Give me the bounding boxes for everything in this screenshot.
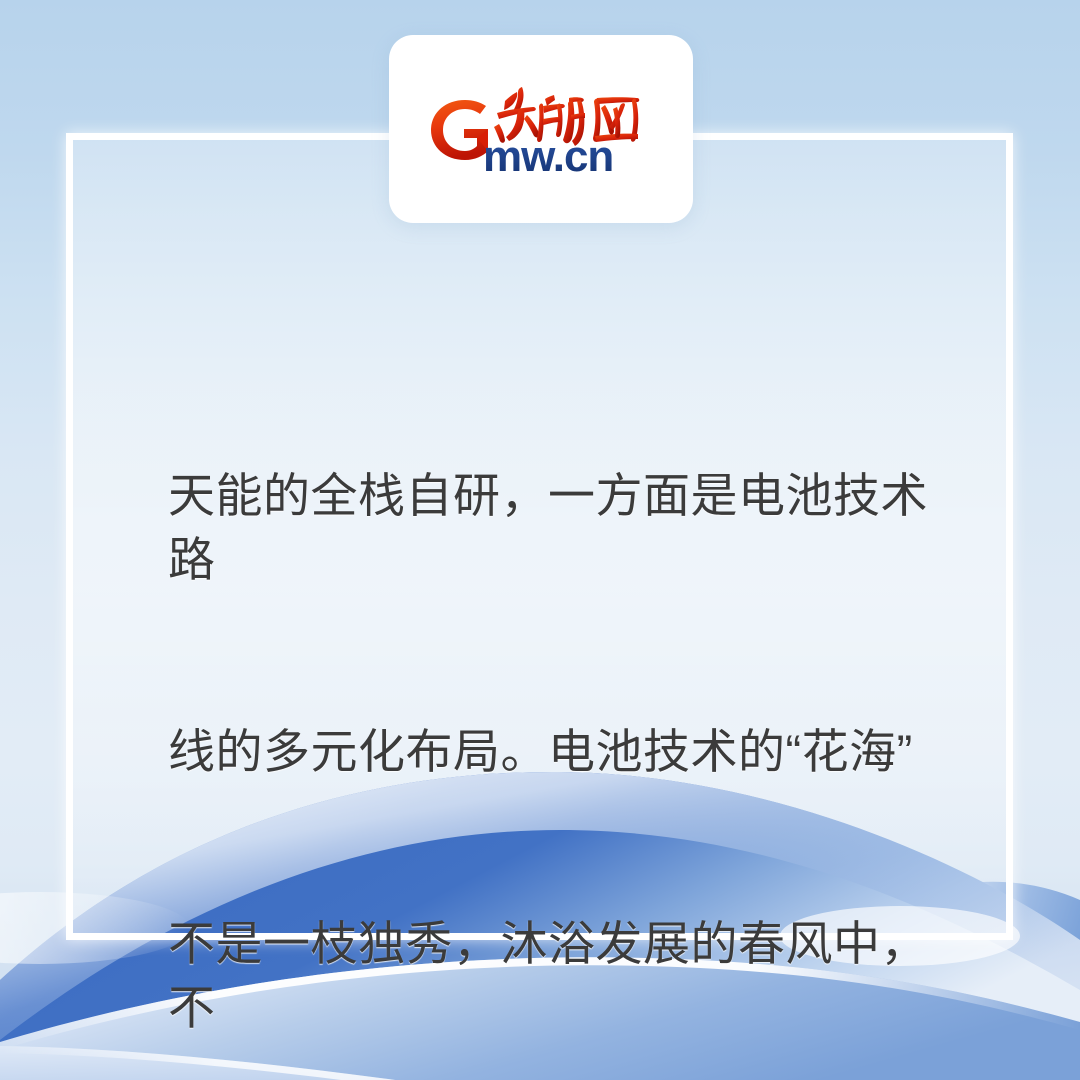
paragraph-line: 线的多元化布局。电池技术的“花海” bbox=[168, 720, 936, 784]
poster-canvas: mw.cn 天能的全栈自研，一方面是电池技术路 线的多元化布局。电池技术的“花海… bbox=[0, 0, 1080, 1080]
article-paragraph: 天能的全栈自研，一方面是电池技术路 线的多元化布局。电池技术的“花海” 不是一枝… bbox=[168, 336, 936, 1080]
svg-text:mw.cn: mw.cn bbox=[483, 132, 613, 175]
logo-card[interactable]: mw.cn bbox=[389, 35, 693, 223]
paragraph-line: 天能的全栈自研，一方面是电池技术路 bbox=[168, 464, 936, 592]
paragraph-line: 不是一枝独秀，沐浴发展的春风中，不 bbox=[168, 912, 936, 1040]
guangming-logo: mw.cn bbox=[421, 83, 661, 175]
